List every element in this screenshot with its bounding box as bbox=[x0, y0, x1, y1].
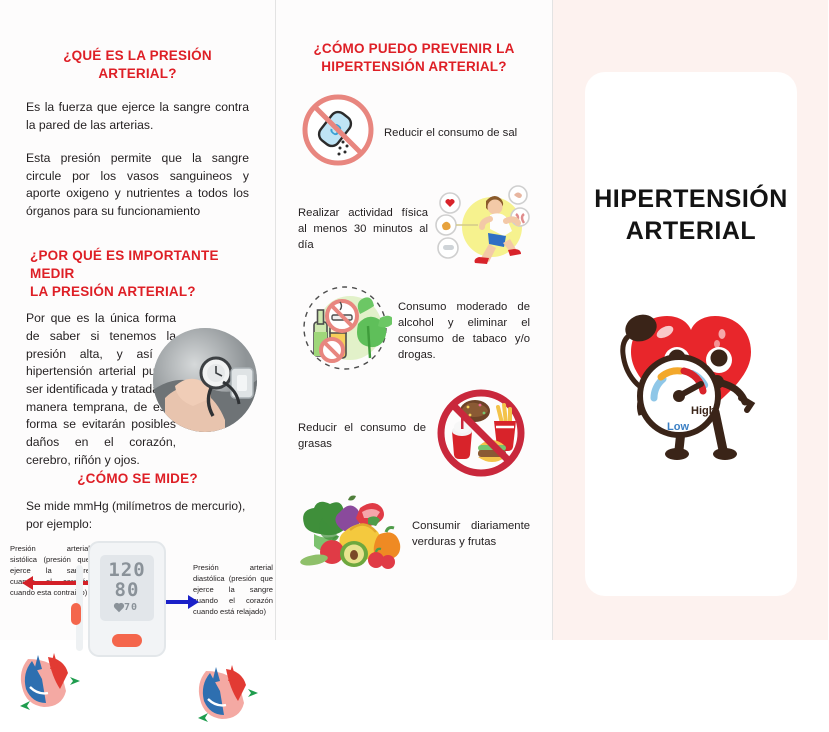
paragraph-circulation: Esta presión permite que la sangre circu… bbox=[26, 150, 249, 221]
running-person-icon bbox=[434, 181, 530, 276]
heading-what-is-blood-pressure: ¿QUÉ ES LA PRESIÓN ARTERIAL? bbox=[26, 47, 249, 83]
tip-text: Reducir el consumo de sal bbox=[384, 125, 530, 141]
heart-anatomy-relaxed-icon bbox=[186, 661, 262, 727]
heading-how-to-prevent-line1: ¿CÓMO PUEDO PREVENIR LA bbox=[298, 40, 530, 58]
gauge-low-label: Low bbox=[667, 421, 689, 433]
heading-why-important: ¿POR QUÉ ES IMPORTANTE MEDIR LA PRESIÓN … bbox=[26, 247, 249, 302]
monitor-screen: 120 80 70 bbox=[100, 555, 154, 621]
reading-systolic: 120 bbox=[108, 561, 145, 580]
no-alcohol-tobacco-drugs-icon bbox=[298, 284, 392, 377]
paragraph-mmhg: Se mide mmHg (milímetros de mercurio), p… bbox=[26, 498, 249, 533]
tip-text: Consumir diariamente verduras y frutas bbox=[412, 518, 530, 550]
no-salt-icon: S bbox=[298, 90, 378, 175]
heartbeat-icon bbox=[115, 604, 123, 612]
paragraph-definition: Es la fuerza que ejerce la sangre contra… bbox=[26, 99, 249, 134]
tip-alcohol-tobacco: Consumo moderado de alcohol y eliminar e… bbox=[298, 284, 530, 377]
heading-how-to-prevent: ¿CÓMO PUEDO PREVENIR LA HIPERTENSIÓN ART… bbox=[298, 40, 530, 76]
tip-text: Consumo moderado de alcohol y eliminar e… bbox=[398, 299, 530, 363]
why-important-block: Por que es la única forma de saber si te… bbox=[26, 310, 249, 460]
reading-diastolic: 80 bbox=[115, 580, 140, 601]
panel-middle: ¿CÓMO PUEDO PREVENIR LA HIPERTENSIÓN ART… bbox=[275, 0, 553, 640]
blood-pressure-cuff-photo bbox=[153, 328, 257, 432]
panel-right: HIPERTENSIÓN ARTERIAL bbox=[553, 0, 828, 640]
measurement-diagram: Presión arterial sistólica (presión que … bbox=[0, 543, 275, 718]
heading-why-important-line2: LA PRESIÓN ARTERIAL? bbox=[30, 283, 249, 301]
monitor-cuff-tab bbox=[71, 603, 81, 625]
no-fast-food-icon bbox=[432, 387, 530, 484]
tip-fruits-vegetables: Consumir diariamente verduras y frutas bbox=[298, 490, 530, 577]
page-title-line1: HIPERTENSIÓN bbox=[585, 184, 797, 216]
tip-reduce-salt: S Reducir el consumo de sal bbox=[298, 90, 530, 175]
heart-character-with-bp-gauge-icon: High Low bbox=[591, 272, 791, 472]
heading-how-measured: ¿CÓMO SE MIDE? bbox=[26, 470, 249, 488]
panel-left: ¿QUÉ ES LA PRESIÓN ARTERIAL? Es la fuerz… bbox=[0, 0, 275, 640]
gauge-high-label: High bbox=[691, 405, 716, 417]
tip-physical-activity: Realizar actividad física al menos 30 mi… bbox=[298, 181, 530, 276]
heading-why-important-line1: ¿POR QUÉ ES IMPORTANTE MEDIR bbox=[30, 247, 249, 283]
tip-text: Realizar actividad física al menos 30 mi… bbox=[298, 205, 428, 253]
reading-pulse: 70 bbox=[124, 601, 138, 615]
tip-reduce-fats: Reducir el consumo de grasas bbox=[298, 387, 530, 484]
cover-card: HIPERTENSIÓN ARTERIAL bbox=[585, 72, 797, 596]
tip-text: Reducir el consumo de grasas bbox=[298, 420, 426, 452]
heart-anatomy-contracted-icon bbox=[8, 649, 84, 715]
fruits-vegetables-icon bbox=[298, 490, 406, 577]
monitor-start-button[interactable] bbox=[112, 634, 142, 647]
brochure: ¿QUÉ ES LA PRESIÓN ARTERIAL? Es la fuerz… bbox=[0, 0, 829, 640]
heading-how-to-prevent-line2: HIPERTENSIÓN ARTERIAL? bbox=[298, 58, 530, 76]
page-title: HIPERTENSIÓN ARTERIAL bbox=[585, 184, 797, 247]
reading-pulse-row: 70 bbox=[116, 601, 138, 615]
page-title-line2: ARTERIAL bbox=[585, 216, 797, 248]
